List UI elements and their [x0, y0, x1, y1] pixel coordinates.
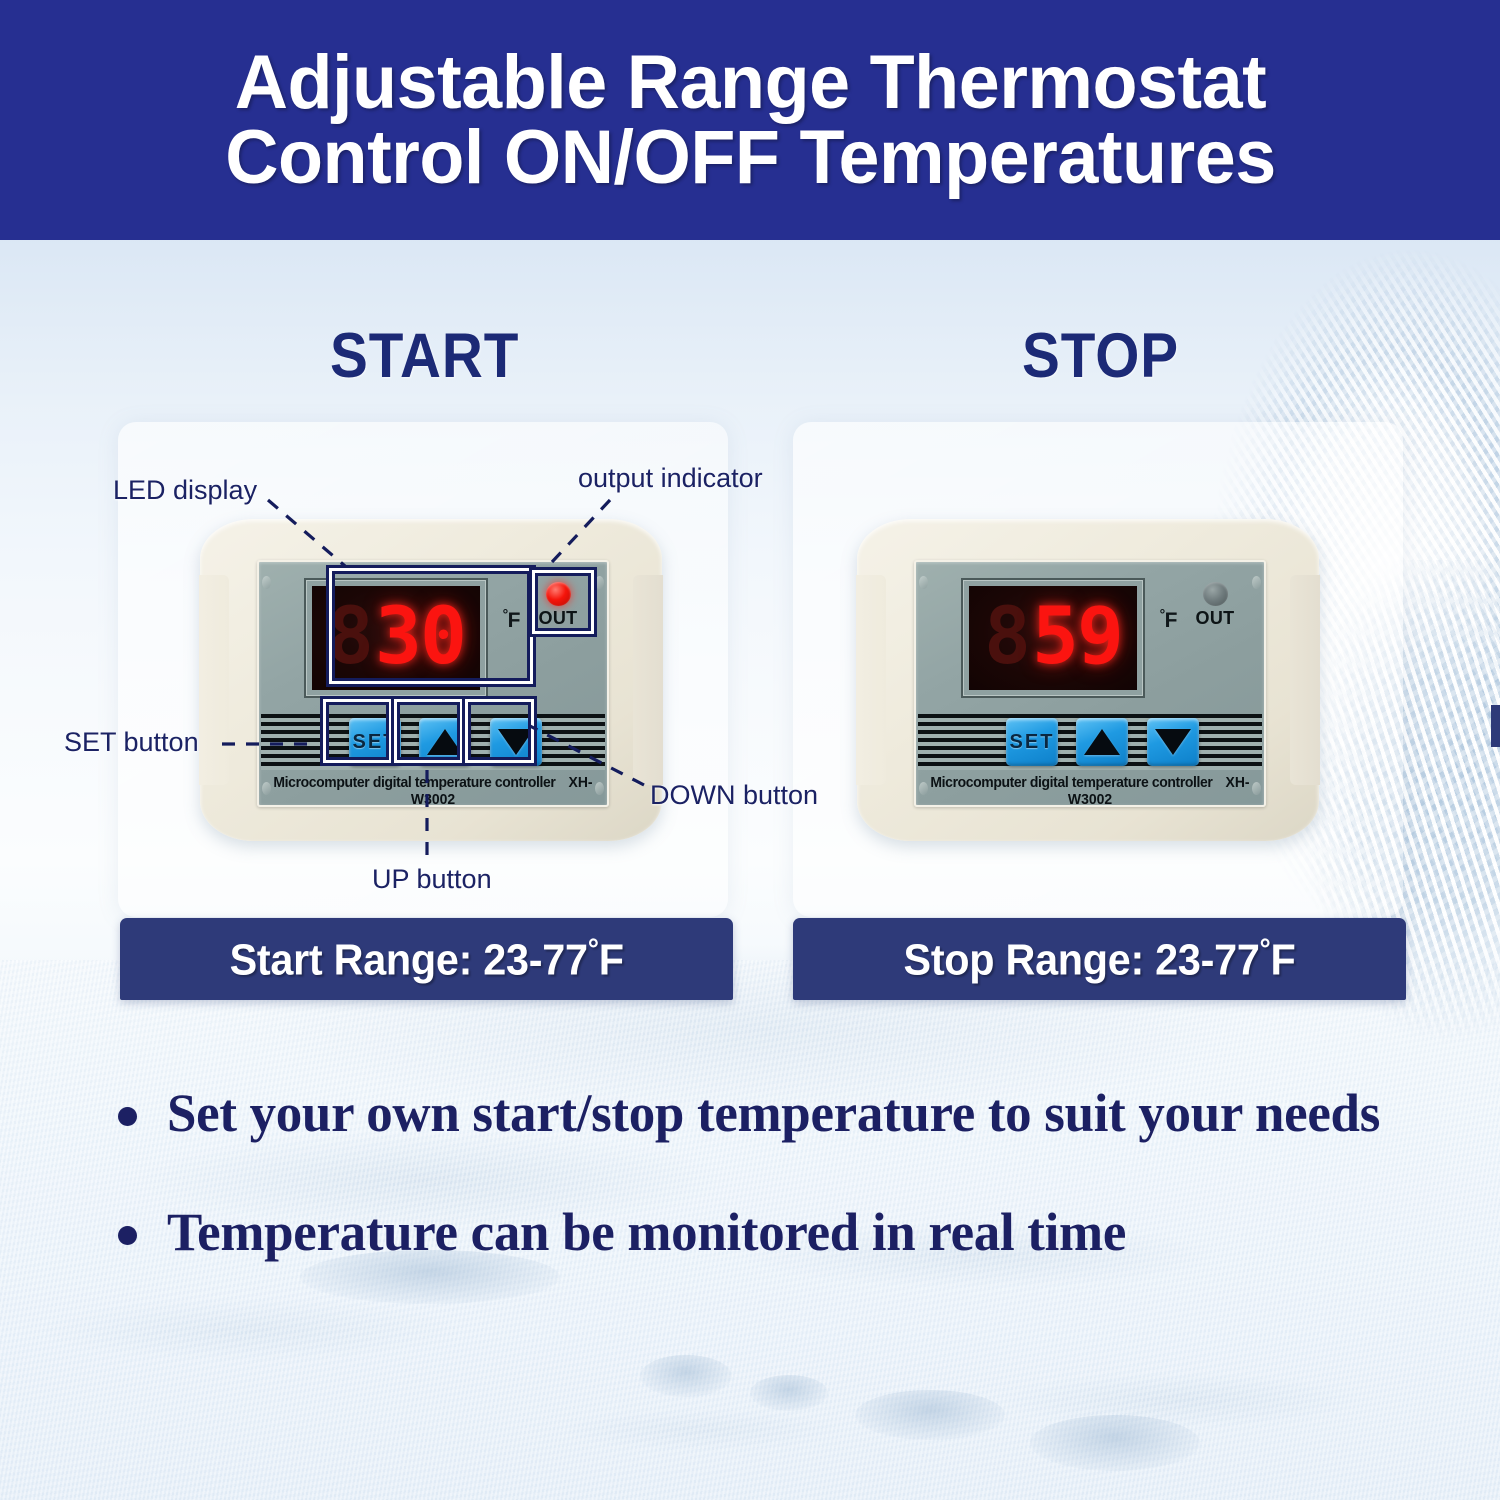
triangle-down-icon	[1155, 729, 1191, 755]
footprint-depression	[855, 1390, 1005, 1440]
brand-description: Microcomputer digital temperature contro…	[273, 774, 555, 791]
screw-icon	[919, 576, 928, 589]
down-button[interactable]	[490, 718, 542, 766]
bullet-dot-icon	[118, 1226, 137, 1245]
screw-icon	[919, 782, 928, 795]
unit-label-fahrenheit: °F	[1160, 606, 1177, 633]
output-indicator-label: OUT	[1196, 608, 1235, 629]
triangle-down-icon	[498, 729, 534, 755]
callout-label-led-display: LED display	[113, 475, 257, 506]
output-indicator: OUT	[1188, 582, 1242, 638]
screw-icon	[1252, 782, 1261, 795]
device-faceplate: 8 30 °F OUT SET Microcomputer digital te…	[257, 560, 609, 807]
degree-symbol: °	[1260, 933, 1271, 966]
led-display: 8 30 °F	[304, 578, 488, 698]
led-digits: 8 30	[312, 586, 480, 690]
bullet-text: Set your own start/stop temperature to s…	[167, 1085, 1380, 1142]
led-display: 8 59 °F	[961, 578, 1145, 698]
section-title-stop: STOP	[1022, 320, 1179, 392]
infographic-page: Adjustable Range Thermostat Control ON/O…	[0, 0, 1500, 1500]
screw-icon	[262, 782, 271, 795]
triangle-up-icon	[427, 729, 463, 755]
footprint-depression	[640, 1355, 732, 1397]
led-value: 30	[375, 606, 465, 670]
screw-icon	[595, 576, 604, 589]
list-item: Temperature can be monitored in real tim…	[118, 1204, 1448, 1261]
page-title: Adjustable Range Thermostat Control ON/O…	[225, 45, 1275, 195]
range-banner-start-text: Start Range: 23-77°F	[229, 933, 623, 986]
set-button[interactable]: SET	[1006, 718, 1058, 766]
device-brand-text: Microcomputer digital temperature contro…	[928, 774, 1252, 808]
unit-letter: F	[1165, 609, 1177, 632]
range-banner-start: Start Range: 23-77°F	[120, 918, 733, 1000]
set-button-label: SET	[353, 731, 398, 754]
led-digits: 8 59	[969, 586, 1137, 690]
led-ghost-digit: 8	[984, 606, 1029, 670]
section-title-start: START	[330, 320, 519, 392]
output-led-icon	[1203, 582, 1228, 606]
callout-label-output-indicator: output indicator	[578, 463, 763, 494]
unit-label-fahrenheit: °F	[503, 606, 520, 633]
screw-icon	[1252, 576, 1261, 589]
callout-label-up-button: UP button	[372, 864, 492, 895]
device-faceplate: 8 59 °F OUT SET Microcomputer digital te…	[914, 560, 1266, 807]
led-ghost-digit: 8	[327, 606, 372, 670]
output-indicator: OUT	[531, 582, 585, 638]
brand-description: Microcomputer digital temperature contro…	[930, 774, 1212, 791]
output-led-icon	[546, 582, 571, 606]
list-item: Set your own start/stop temperature to s…	[118, 1085, 1448, 1142]
bullet-dot-icon	[118, 1107, 137, 1126]
set-button[interactable]: SET	[349, 718, 401, 766]
output-indicator-label: OUT	[539, 608, 578, 629]
screw-icon	[262, 576, 271, 589]
screw-icon	[595, 782, 604, 795]
unit-letter: F	[508, 609, 520, 632]
triangle-up-icon	[1084, 729, 1120, 755]
device-brand-text: Microcomputer digital temperature contro…	[271, 774, 595, 808]
up-button[interactable]	[1076, 718, 1128, 766]
footprint-depression	[750, 1375, 828, 1411]
set-button-label: SET	[1010, 731, 1055, 754]
header-banner: Adjustable Range Thermostat Control ON/O…	[0, 0, 1500, 240]
thermostat-device-stop: 8 59 °F OUT SET Microcomputer digital te…	[857, 519, 1319, 841]
title-line-1: Adjustable Range Thermostat	[234, 40, 1265, 125]
callout-label-set-button: SET button	[64, 727, 199, 758]
led-value: 59	[1032, 606, 1122, 670]
up-button[interactable]	[419, 718, 471, 766]
edge-accent-chip	[1491, 705, 1500, 747]
feature-bullet-list: Set your own start/stop temperature to s…	[118, 1085, 1448, 1261]
degree-symbol: °	[588, 933, 599, 966]
title-line-2: Control ON/OFF Temperatures	[225, 120, 1275, 195]
range-banner-stop: Stop Range: 23-77°F	[793, 918, 1406, 1000]
footprint-depression	[1030, 1415, 1200, 1471]
thermostat-device-start: 8 30 °F OUT SET Microcomputer digital te…	[200, 519, 662, 841]
callout-label-down-button: DOWN button	[650, 780, 818, 811]
down-button[interactable]	[1147, 718, 1199, 766]
bullet-text: Temperature can be monitored in real tim…	[167, 1204, 1126, 1261]
range-banner-stop-text: Stop Range: 23-77°F	[903, 933, 1295, 986]
